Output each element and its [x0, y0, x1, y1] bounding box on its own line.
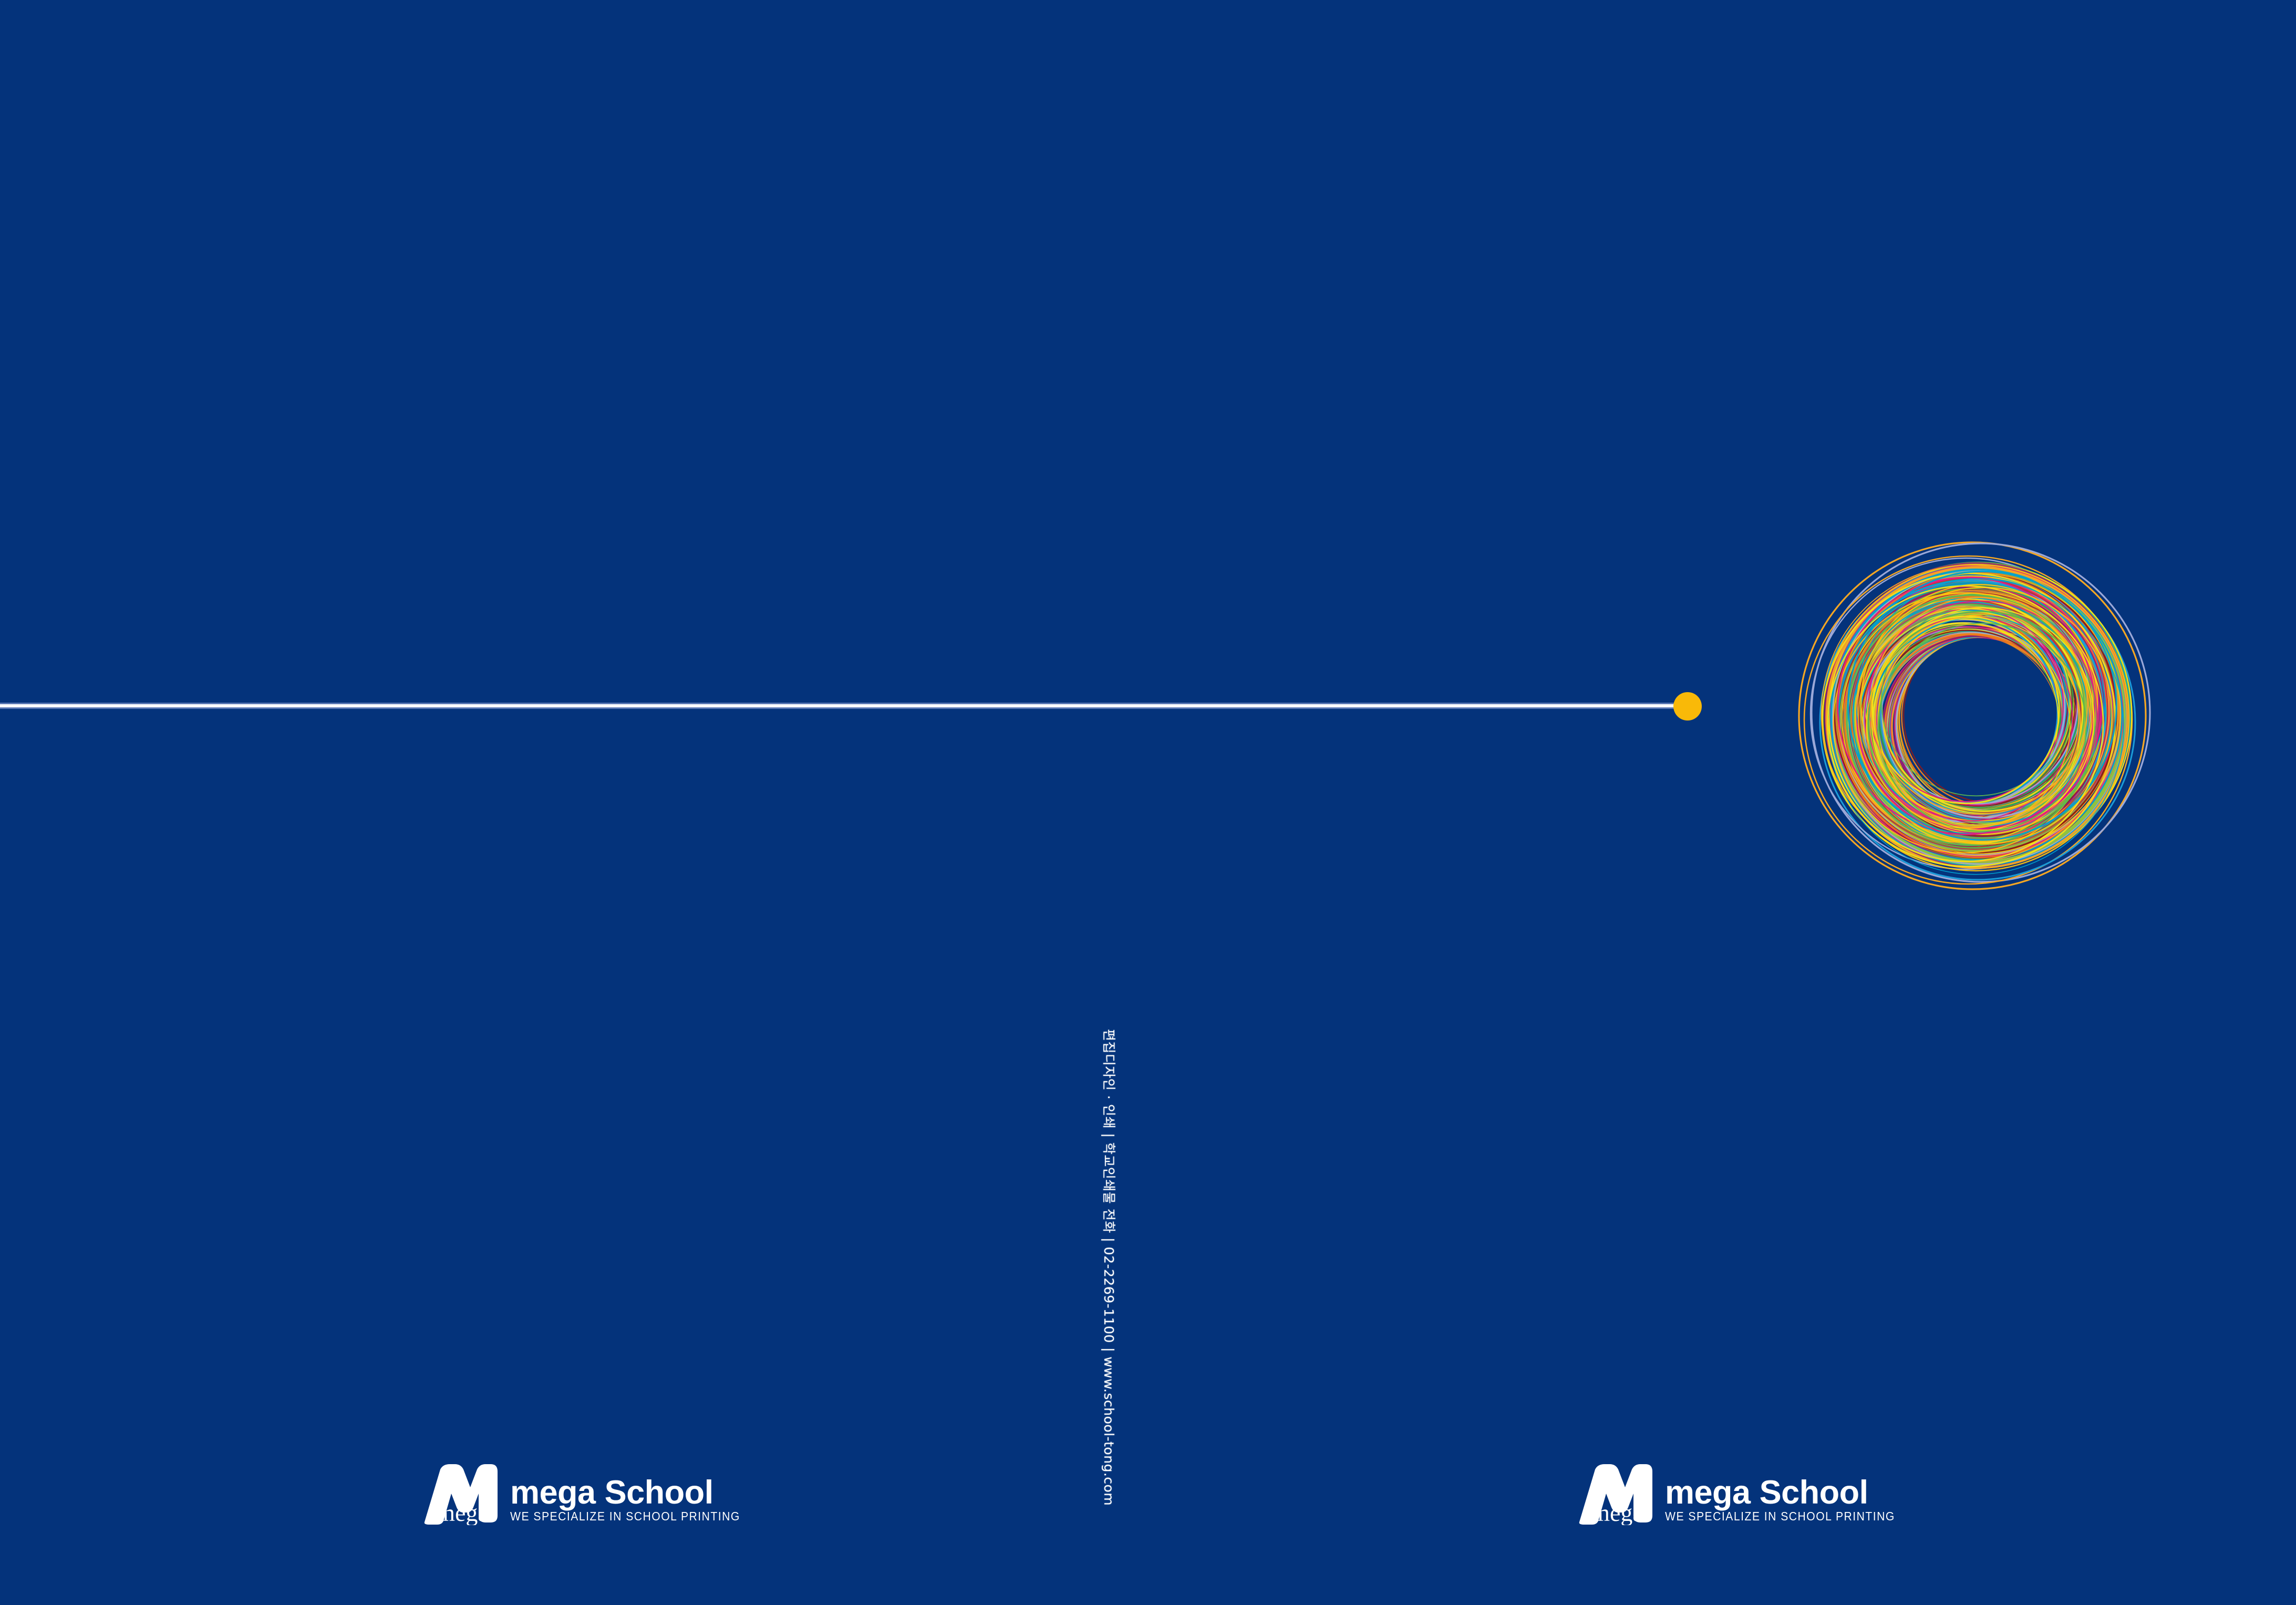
logo-tagline: WE SPECIALIZE IN SCHOOL PRINTING — [510, 1509, 740, 1524]
logo-words-back: mega School WE SPECIALIZE IN SCHOOL PRIN… — [510, 1477, 760, 1525]
svg-text:mega: mega — [436, 1499, 489, 1525]
horizontal-rule — [0, 704, 1684, 707]
yellow-dot — [1673, 692, 1702, 721]
logo-title: mega School — [510, 1477, 760, 1509]
mega-m-mark-icon: mega — [420, 1463, 502, 1525]
spine-credit-text: 편집디자인 · 인쇄 | 학교인쇄물 전화 | 02-2269-1100 | w… — [1100, 1029, 1119, 1506]
concentric-rainbow-ring — [1776, 515, 2175, 914]
svg-text:mega: mega — [1591, 1499, 1643, 1525]
spine-credit-line: 편집디자인 · 인쇄 | 학교인쇄물 전화 | 02-2269-1100 | w… — [1099, 1029, 1120, 1518]
logo-lockup-front: mega mega School WE SPECIALIZE IN SCHOOL… — [1575, 1462, 1915, 1525]
logo-words-front: mega School WE SPECIALIZE IN SCHOOL PRIN… — [1665, 1477, 1915, 1525]
logo-tagline: WE SPECIALIZE IN SCHOOL PRINTING — [1665, 1509, 1895, 1524]
logo-title: mega School — [1665, 1477, 1915, 1509]
cover-canvas: 편집디자인 · 인쇄 | 학교인쇄물 전화 | 02-2269-1100 | w… — [0, 0, 2296, 1605]
logo-lockup-back: mega mega School WE SPECIALIZE IN SCHOOL… — [420, 1462, 760, 1525]
mega-m-mark-icon: mega — [1575, 1463, 1657, 1525]
